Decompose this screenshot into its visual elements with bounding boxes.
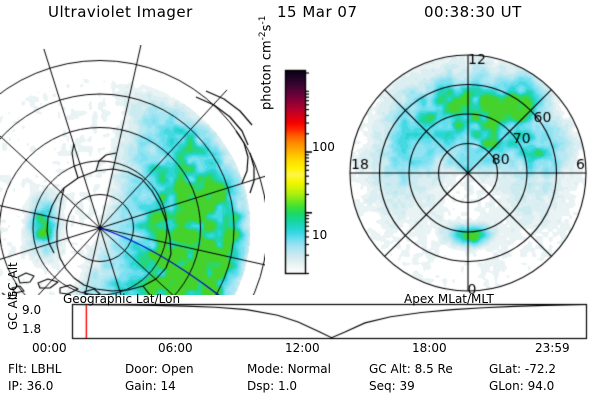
observation-date: 15 Mar 07 [277,3,358,21]
colorbar-title-text: photon cm [259,40,274,110]
time-tick-2: 12:00 [285,341,320,355]
colorbar-title-exp1: -2 [258,31,268,40]
apex-polar-plot[interactable] [340,45,600,295]
altitude-time-series[interactable] [70,302,590,342]
time-tick-3: 18:00 [412,341,447,355]
altitude-ylabel-bottom: GC Alt [6,292,20,330]
status-glon: GLon: 94.0 [489,379,554,393]
status-gain: Gain: 14 [125,379,176,393]
status-row: Flt: LBHL Door: Open Mode: Normal GC Alt… [0,362,600,379]
colorbar-title-s: s [259,25,274,32]
colorbar-tick-10: 10 [312,228,327,242]
status-glat: GLat: -72.2 [489,362,556,376]
time-tick-0: 00:00 [32,341,67,355]
altitude-ytick-low: 1.8 [22,322,41,336]
status-dsp: Dsp: 1.0 [247,379,297,393]
header-bar: Ultraviolet Imager 15 Mar 07 00:38:30 UT [0,0,600,26]
colorbar-title-exp2: -1 [258,16,268,25]
instrument-title: Ultraviolet Imager [48,3,193,21]
geographic-polar-plot[interactable] [0,45,265,295]
status-row: IP: 36.0 Gain: 14 Dsp: 1.0 Seq: 39 GLon:… [0,379,600,396]
observation-time: 00:38:30 UT [424,3,522,21]
status-ip: IP: 36.0 [8,379,53,393]
status-seq: Seq: 39 [369,379,415,393]
altitude-ytick-high: 9.0 [22,303,41,317]
colorbar-tick-100: 100 [312,140,335,154]
time-tick-1: 06:00 [158,341,193,355]
status-flt: Flt: LBHL [8,362,61,376]
status-gcalt: GC Alt: 8.5 Re [369,362,453,376]
status-door: Door: Open [125,362,194,376]
colorbar-axis-title: photon cm-2s-1 [258,0,274,110]
time-tick-4: 23:59 [535,341,570,355]
status-panel: Flt: LBHL Door: Open Mode: Normal GC Alt… [0,362,600,396]
colorbar [283,66,313,281]
status-mode: Mode: Normal [247,362,331,376]
